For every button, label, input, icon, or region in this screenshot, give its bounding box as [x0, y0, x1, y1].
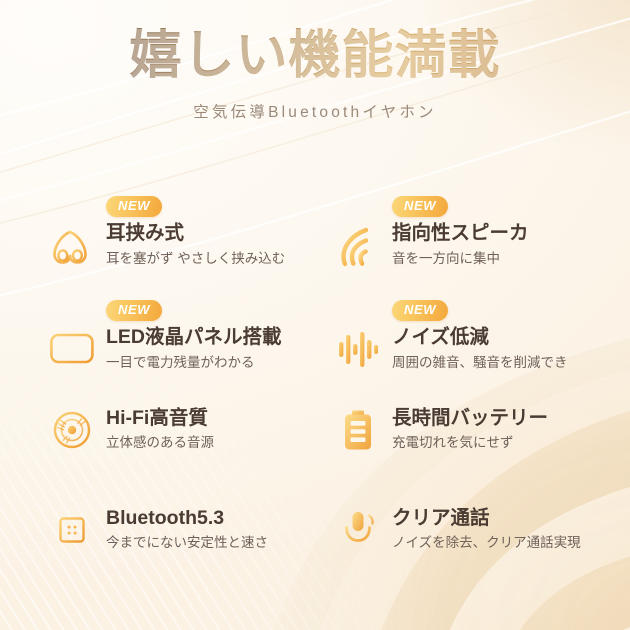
feature-item-noise-reduction: NEW ノイズ低減 周囲の雑音、騒音を削減でき — [333, 300, 583, 404]
feature-title: 指向性スピーカ — [392, 221, 583, 246]
feature-item-led-panel: NEW LED液晶パネル搭載 一目で電力残量がわかる — [47, 300, 287, 404]
page-subtitle: 空気伝導Bluetoothイヤホン — [0, 100, 630, 122]
feature-text: NEW LED液晶パネル搭載 一目で電力残量がわかる — [106, 300, 287, 372]
feature-title: Hi-Fi高音質 — [106, 406, 287, 431]
feature-description: ノイズを除去、クリア通話実現 — [392, 534, 583, 552]
feature-text: Bluetooth5.3 今までにない安定性と速さ — [106, 504, 287, 553]
ear-clip-icon — [49, 222, 95, 268]
feature-description: 一目で電力残量がわかる — [106, 354, 287, 372]
new-badge: NEW — [106, 300, 162, 321]
feature-title: LED液晶パネル搭載 — [106, 325, 287, 350]
feature-grid: NEW 耳挟み式 耳を塞がず やさしく挟み込む — [0, 196, 630, 604]
feature-item-directional-speaker: NEW 指向性スピーカ 音を一方向に集中 — [333, 196, 583, 300]
led-display-icon — [49, 326, 95, 372]
feature-description: 充電切れを気にせず — [392, 434, 583, 452]
feature-description: 立体感のある音源 — [106, 434, 287, 452]
poster-header: 嬉しい機能満載 空気伝導Bluetoothイヤホン — [0, 26, 630, 122]
feature-text: Hi-Fi高音質 立体感のある音源 — [106, 404, 287, 453]
feature-item-bluetooth: Bluetooth5.3 今までにない安定性と速さ — [47, 504, 287, 604]
feature-description: 周囲の雑音、騒音を削減でき — [392, 354, 583, 372]
microphone-icon — [335, 507, 381, 553]
feature-title: 耳挟み式 — [106, 221, 287, 246]
feature-item-battery: 長時間バッテリー 充電切れを気にせず — [333, 404, 583, 504]
new-badge: NEW — [106, 196, 162, 217]
feature-title: クリア通話 — [392, 506, 583, 531]
feature-description: 今までにない安定性と速さ — [106, 534, 287, 552]
feature-text: クリア通話 ノイズを除去、クリア通話実現 — [392, 504, 583, 553]
new-badge: NEW — [392, 196, 448, 217]
feature-title: 長時間バッテリー — [392, 406, 583, 431]
battery-icon — [335, 407, 381, 453]
feature-item-hifi: Hi-Fi高音質 立体感のある音源 — [47, 404, 287, 504]
feature-text: NEW ノイズ低減 周囲の雑音、騒音を削減でき — [392, 300, 583, 372]
new-badge: NEW — [392, 300, 448, 321]
feature-title: ノイズ低減 — [392, 325, 583, 350]
feature-description: 音を一方向に集中 — [392, 250, 583, 268]
feature-highlight-poster: 嬉しい機能満載 空気伝導Bluetoothイヤホン — [0, 0, 630, 630]
chip-icon — [49, 507, 95, 553]
feature-item-clear-call: クリア通話 ノイズを除去、クリア通話実現 — [333, 504, 583, 604]
feature-text: NEW 指向性スピーカ 音を一方向に集中 — [392, 196, 583, 268]
feature-text: 長時間バッテリー 充電切れを気にせず — [392, 404, 583, 453]
feature-item-ear-clip: NEW 耳挟み式 耳を塞がず やさしく挟み込む — [47, 196, 287, 300]
cd-disc-icon — [49, 407, 95, 453]
directional-speaker-icon — [335, 222, 381, 268]
feature-text: NEW 耳挟み式 耳を塞がず やさしく挟み込む — [106, 196, 287, 268]
page-title: 嬉しい機能満載 — [0, 26, 630, 86]
noise-waveform-icon — [335, 326, 381, 372]
feature-title: Bluetooth5.3 — [106, 506, 287, 531]
feature-description: 耳を塞がず やさしく挟み込む — [106, 250, 287, 268]
